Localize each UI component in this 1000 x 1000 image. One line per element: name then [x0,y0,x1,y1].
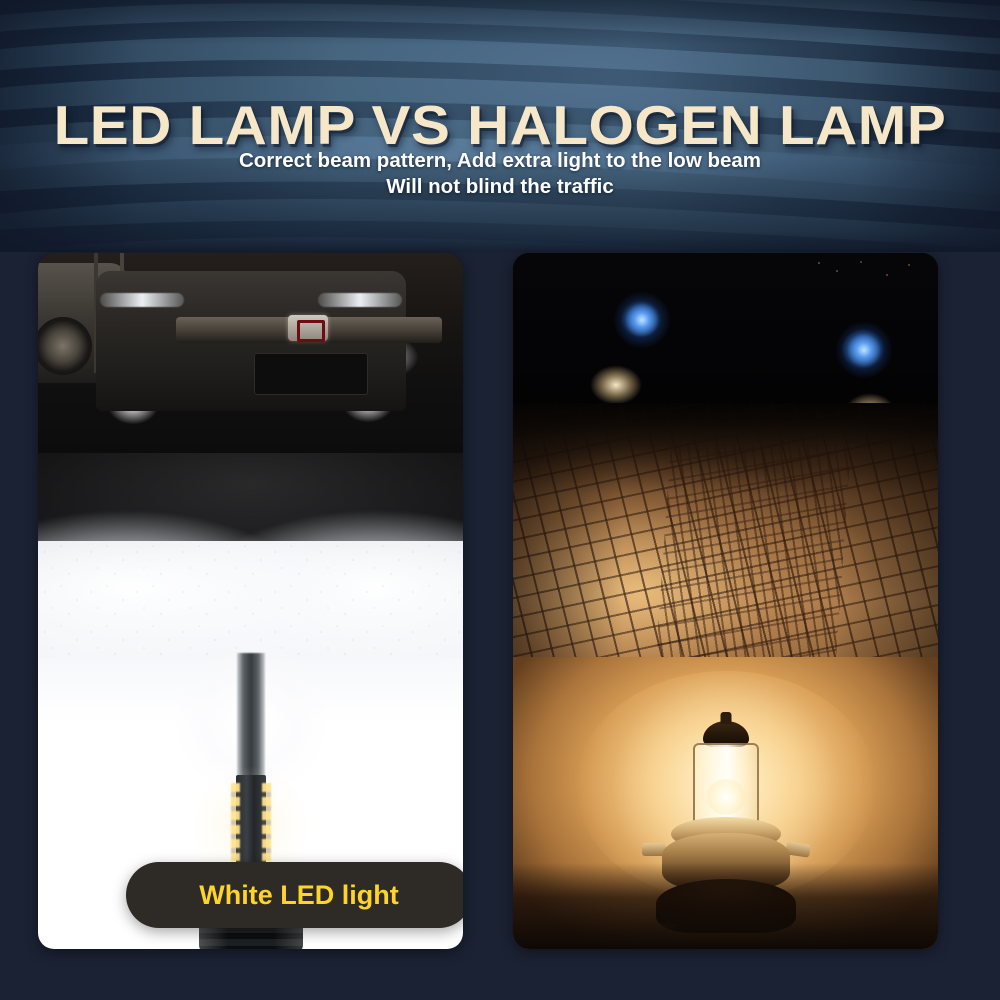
halogen-filament [706,779,746,815]
panel-yellow-halogen[interactable]: yellow halogen lamp [513,253,938,949]
page-root: LED LAMP VS HALOGEN LAMP Correct beam pa… [0,0,1000,1000]
halogen-bulb-photo [513,657,938,949]
led-night-car-photo [38,253,463,453]
badge-white-led[interactable]: White LED light [126,862,463,928]
panel-white-led[interactable]: White LED light [38,253,463,949]
led-chips-right [262,783,271,861]
subtitle-line-2: Will not blind the traffic [0,174,1000,200]
headlight-left [100,293,184,307]
halogen-brick-pavement-photo [513,403,938,671]
badge-white-led-label: White LED light [199,880,398,911]
blue-accent-light-left [613,291,671,349]
car-front-body [96,271,406,411]
brick-shadow-overlay [513,403,938,671]
distant-amber-lights [813,259,923,293]
license-plate [254,353,368,395]
asphalt-grain-texture [38,541,463,659]
page-title: LED LAMP VS HALOGEN LAMP [0,98,1000,153]
halogen-bottom-shadow [513,863,938,949]
subtitle-line-1: Correct beam pattern, Add extra light to… [239,149,761,172]
led-asphalt-surface [38,541,463,659]
honda-emblem [288,315,328,341]
led-chips-left [231,783,240,861]
blue-accent-light-right [835,321,893,379]
page-subtitle: Correct beam pattern, Add extra light to… [0,148,1000,200]
headlight-right [318,293,402,307]
